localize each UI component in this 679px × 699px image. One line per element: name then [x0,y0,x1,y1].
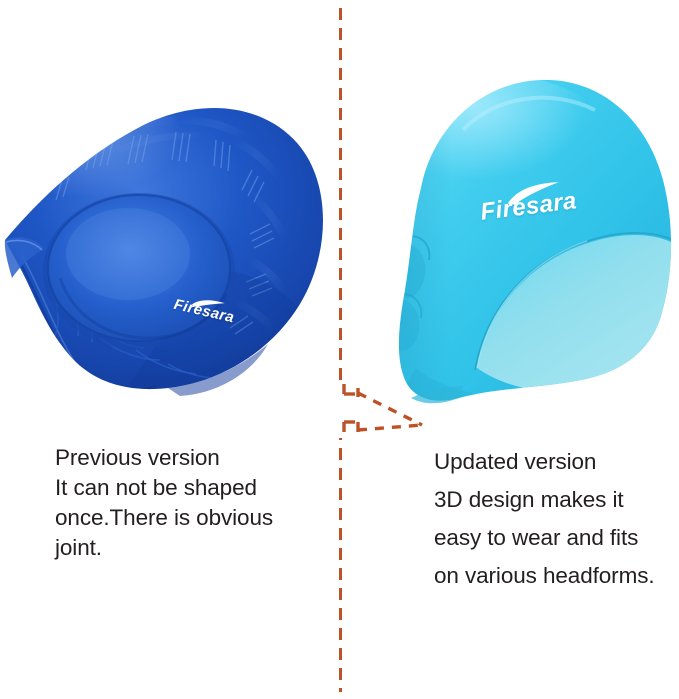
dashed-right-chevron-arrow [336,378,432,440]
previous-version-swim-cap-image [0,88,330,398]
caption-previous-version: Previous version It can not be shaped on… [55,443,273,563]
previous-cap-ear-pocket [43,193,235,349]
updated-cap-body [395,68,679,408]
updated-version-swim-cap-image [355,68,679,408]
caption-updated-version: Updated version 3D design makes it easy … [434,443,655,595]
dashed-vertical-divider [339,8,342,692]
previous-cap-body [5,101,330,398]
comparison-infographic: Firesara [0,0,679,699]
